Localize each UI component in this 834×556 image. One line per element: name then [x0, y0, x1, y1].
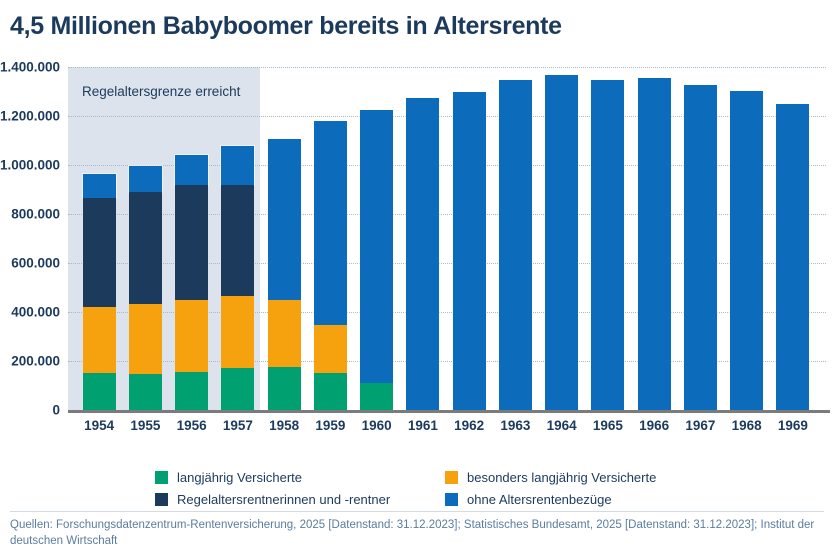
bar-group[interactable] — [314, 121, 347, 410]
bar-segment — [360, 383, 393, 410]
bar-group[interactable] — [360, 110, 393, 410]
legend-label: Regelaltersrentnerinnen und -rentner — [177, 492, 390, 507]
legend-swatch-icon — [445, 471, 458, 484]
divider — [10, 511, 824, 512]
x-axis-tick: 1954 — [83, 418, 116, 433]
bar-segment — [776, 104, 809, 410]
bar-segment — [453, 92, 486, 411]
y-axis-tick: 0 — [52, 403, 60, 418]
x-axis-tick: 1960 — [360, 418, 393, 433]
legend-item-langjaehrig[interactable]: langjährig Versicherte — [155, 470, 445, 485]
bar-segment — [638, 78, 671, 410]
x-axis-tick: 1957 — [221, 418, 254, 433]
bar-segment — [221, 368, 254, 410]
bar-group[interactable] — [730, 91, 763, 410]
bar-segment — [83, 307, 116, 373]
legend-item-ohne[interactable]: ohne Altersrentenbezüge — [445, 492, 775, 507]
legend-item-regelalters[interactable]: Regelaltersrentnerinnen und -rentner — [155, 492, 445, 507]
bar-segment — [221, 296, 254, 368]
bar-group[interactable] — [129, 166, 162, 410]
bar-segment — [175, 300, 208, 372]
y-axis-tick: 800.000 — [11, 207, 60, 222]
legend-swatch-icon — [155, 493, 168, 506]
bar-segment — [175, 185, 208, 300]
plot-canvas: Regelaltersgrenze erreicht — [68, 60, 826, 410]
bar-segment — [83, 198, 116, 307]
bar-group[interactable] — [453, 92, 486, 411]
bar-segment — [268, 300, 301, 367]
bar-segment — [314, 325, 347, 373]
bar-segment — [129, 166, 162, 192]
legend-label: langjährig Versicherte — [177, 470, 302, 485]
x-axis-tick: 1969 — [776, 418, 809, 433]
bar-segment — [83, 174, 116, 198]
x-axis-tick: 1964 — [545, 418, 578, 433]
legend-swatch-icon — [445, 493, 458, 506]
bar-segment — [268, 367, 301, 410]
page-title: 4,5 Millionen Babyboomer bereits in Alte… — [10, 12, 562, 41]
x-axis-tick: 1955 — [129, 418, 162, 433]
bar-segment — [684, 85, 717, 410]
legend-swatch-icon — [155, 471, 168, 484]
bar-group[interactable] — [175, 155, 208, 410]
bar-group[interactable] — [406, 98, 439, 410]
bar-segment — [83, 373, 116, 410]
y-axis-tick: 200.000 — [11, 354, 60, 369]
bar-segment — [129, 192, 162, 303]
x-axis-tick: 1962 — [453, 418, 486, 433]
y-axis-tick: 1.200.000 — [0, 109, 60, 124]
bar-series-container — [68, 60, 826, 410]
y-axis: 0200.000400.000600.000800.0001.000.0001.… — [0, 60, 66, 410]
x-axis-tick: 1959 — [314, 418, 347, 433]
bar-group[interactable] — [545, 75, 578, 410]
y-axis-tick: 1.000.000 — [0, 158, 60, 173]
bar-segment — [730, 91, 763, 410]
bar-segment — [175, 155, 208, 184]
x-axis-tick: 1961 — [406, 418, 439, 433]
chart-plot-area: 0200.000400.000600.000800.0001.000.0001.… — [0, 60, 834, 425]
bar-group[interactable] — [776, 104, 809, 410]
y-axis-tick: 600.000 — [11, 256, 60, 271]
bar-group[interactable] — [83, 174, 116, 410]
bar-group[interactable] — [591, 80, 624, 410]
x-axis-tick: 1966 — [638, 418, 671, 433]
bar-group[interactable] — [684, 85, 717, 410]
y-axis-tick: 400.000 — [11, 305, 60, 320]
legend-label: besonders langjährig Versicherte — [467, 470, 656, 485]
bar-segment — [591, 80, 624, 410]
x-axis-tick: 1967 — [684, 418, 717, 433]
legend-label: ohne Altersrentenbezüge — [467, 492, 612, 507]
bar-segment — [360, 110, 393, 383]
bar-segment — [499, 80, 532, 410]
bar-group[interactable] — [221, 146, 254, 410]
bar-group[interactable] — [638, 78, 671, 410]
bar-group[interactable] — [268, 139, 301, 410]
x-axis-labels: 1954195519561957195819591960196119621963… — [68, 418, 826, 444]
x-axis-tick: 1956 — [175, 418, 208, 433]
x-axis-tick: 1958 — [268, 418, 301, 433]
x-axis-tick: 1968 — [730, 418, 763, 433]
bar-segment — [129, 304, 162, 374]
bar-group[interactable] — [499, 80, 532, 410]
chart-legend: langjährig Versichertebesonders langjähr… — [155, 466, 775, 510]
legend-item-besonders[interactable]: besonders langjährig Versicherte — [445, 470, 775, 485]
bar-segment — [314, 373, 347, 410]
x-axis-line — [68, 410, 830, 413]
bar-segment — [221, 185, 254, 295]
bar-segment — [406, 98, 439, 410]
source-note: Quellen: Forschungsdatenzentrum-Rentenve… — [10, 517, 822, 549]
bar-segment — [314, 121, 347, 326]
y-axis-tick: 1.400.000 — [0, 60, 60, 75]
bar-segment — [545, 75, 578, 410]
bar-segment — [175, 372, 208, 410]
bar-segment — [268, 139, 301, 299]
bar-segment — [129, 374, 162, 410]
x-axis-tick: 1963 — [499, 418, 532, 433]
x-axis-tick: 1965 — [591, 418, 624, 433]
bar-segment — [221, 146, 254, 185]
